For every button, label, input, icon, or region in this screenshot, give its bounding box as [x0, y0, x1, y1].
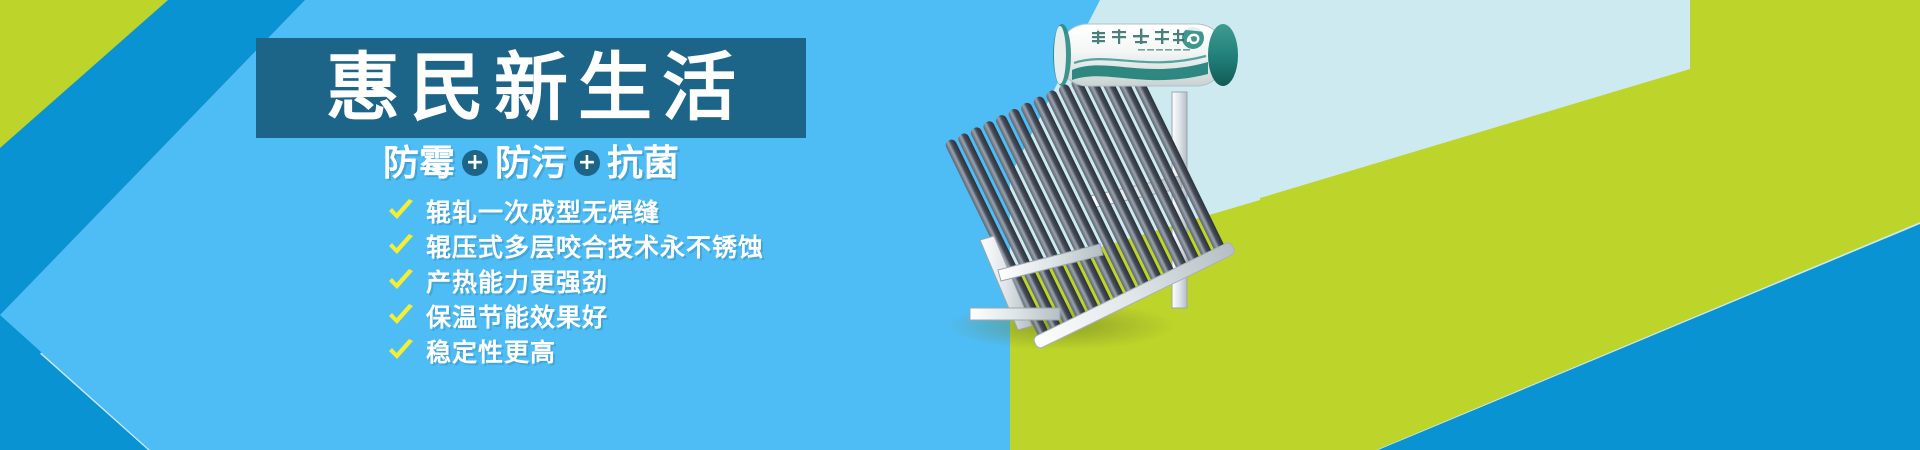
promo-banner: 惠民新生活 防霉+防污+抗菌 辊轧一次成型无焊缝 辊压式多层咬合技术永不锈蚀 — [0, 0, 1920, 450]
check-icon — [386, 301, 416, 331]
feature-list: 辊轧一次成型无焊缝 辊压式多层咬合技术永不锈蚀 产热能力更强劲 保温节能效果好 — [386, 194, 1006, 369]
product-image-solar-water-heater — [940, 8, 1270, 368]
subtitle-part-1: 防霉 — [383, 143, 455, 184]
list-item: 辊压式多层咬合技术永不锈蚀 — [386, 229, 1006, 263]
feature-label: 保温节能效果好 — [426, 298, 608, 334]
check-icon — [386, 231, 416, 261]
list-item: 稳定性更高 — [386, 334, 1006, 368]
feature-label: 辊压式多层咬合技术永不锈蚀 — [426, 228, 764, 264]
page-title: 惠民新生活 — [316, 51, 746, 125]
subtitle: 防霉+防污+抗菌 — [256, 142, 806, 185]
plus-icon-1: + — [462, 150, 488, 176]
list-item: 保温节能效果好 — [386, 299, 1006, 333]
check-icon — [386, 266, 416, 296]
feature-label: 产热能力更强劲 — [426, 263, 608, 299]
list-item: 产热能力更强劲 — [386, 264, 1006, 298]
headline-box: 惠民新生活 — [256, 38, 806, 138]
product-storage-tank — [1053, 24, 1238, 86]
feature-label: 辊轧一次成型无焊缝 — [426, 193, 660, 229]
banner-content: 惠民新生活 防霉+防污+抗菌 辊轧一次成型无焊缝 辊压式多层咬合技术永不锈蚀 — [0, 0, 1100, 450]
check-icon — [386, 336, 416, 366]
check-icon — [386, 196, 416, 226]
subtitle-part-2: 防污 — [495, 143, 567, 184]
evacuated-tube-array — [940, 49, 1236, 349]
plus-icon-2: + — [574, 150, 600, 176]
list-item: 辊轧一次成型无焊缝 — [386, 194, 1006, 228]
feature-label: 稳定性更高 — [426, 333, 556, 369]
subtitle-part-3: 抗菌 — [607, 143, 679, 184]
